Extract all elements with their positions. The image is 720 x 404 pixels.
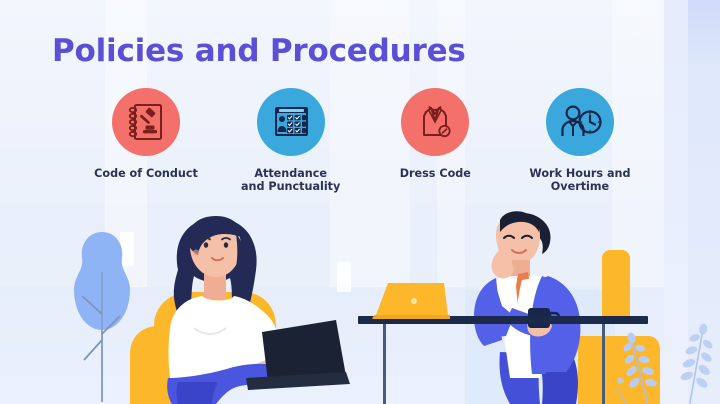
slide-canvas: Policies and Procedures	[0, 0, 720, 404]
policy-item-dress-code[interactable]: Dress Code	[367, 88, 503, 180]
shirt-tie-icon	[413, 100, 457, 144]
fern-leaves	[618, 318, 720, 404]
desk-laptop	[372, 281, 450, 321]
woman-with-laptop	[150, 212, 350, 404]
work-hours-circle	[546, 88, 614, 156]
page-title: Policies and Procedures	[52, 33, 466, 69]
desk-leg-right	[602, 324, 605, 404]
policy-item-code-of-conduct[interactable]: Code of Conduct	[78, 88, 214, 180]
policy-label: Dress Code	[400, 167, 471, 180]
policy-icon-row: Code of Conduct	[78, 88, 648, 213]
man-at-desk	[452, 210, 642, 404]
attendance-calendar-icon	[268, 100, 314, 144]
desk-leg-left	[383, 324, 386, 404]
person-clock-icon	[556, 100, 604, 144]
policy-label: Work Hours and Overtime	[529, 167, 630, 193]
policy-label: Code of Conduct	[94, 167, 198, 180]
attendance-circle	[257, 88, 325, 156]
policy-label: Attendance and Punctuality	[241, 167, 340, 193]
policy-item-attendance[interactable]: Attendance and Punctuality	[223, 88, 359, 193]
policy-item-work-hours[interactable]: Work Hours and Overtime	[512, 88, 648, 193]
dress-code-circle	[401, 88, 469, 156]
code-of-conduct-circle	[112, 88, 180, 156]
notebook-gavel-icon	[124, 100, 168, 144]
